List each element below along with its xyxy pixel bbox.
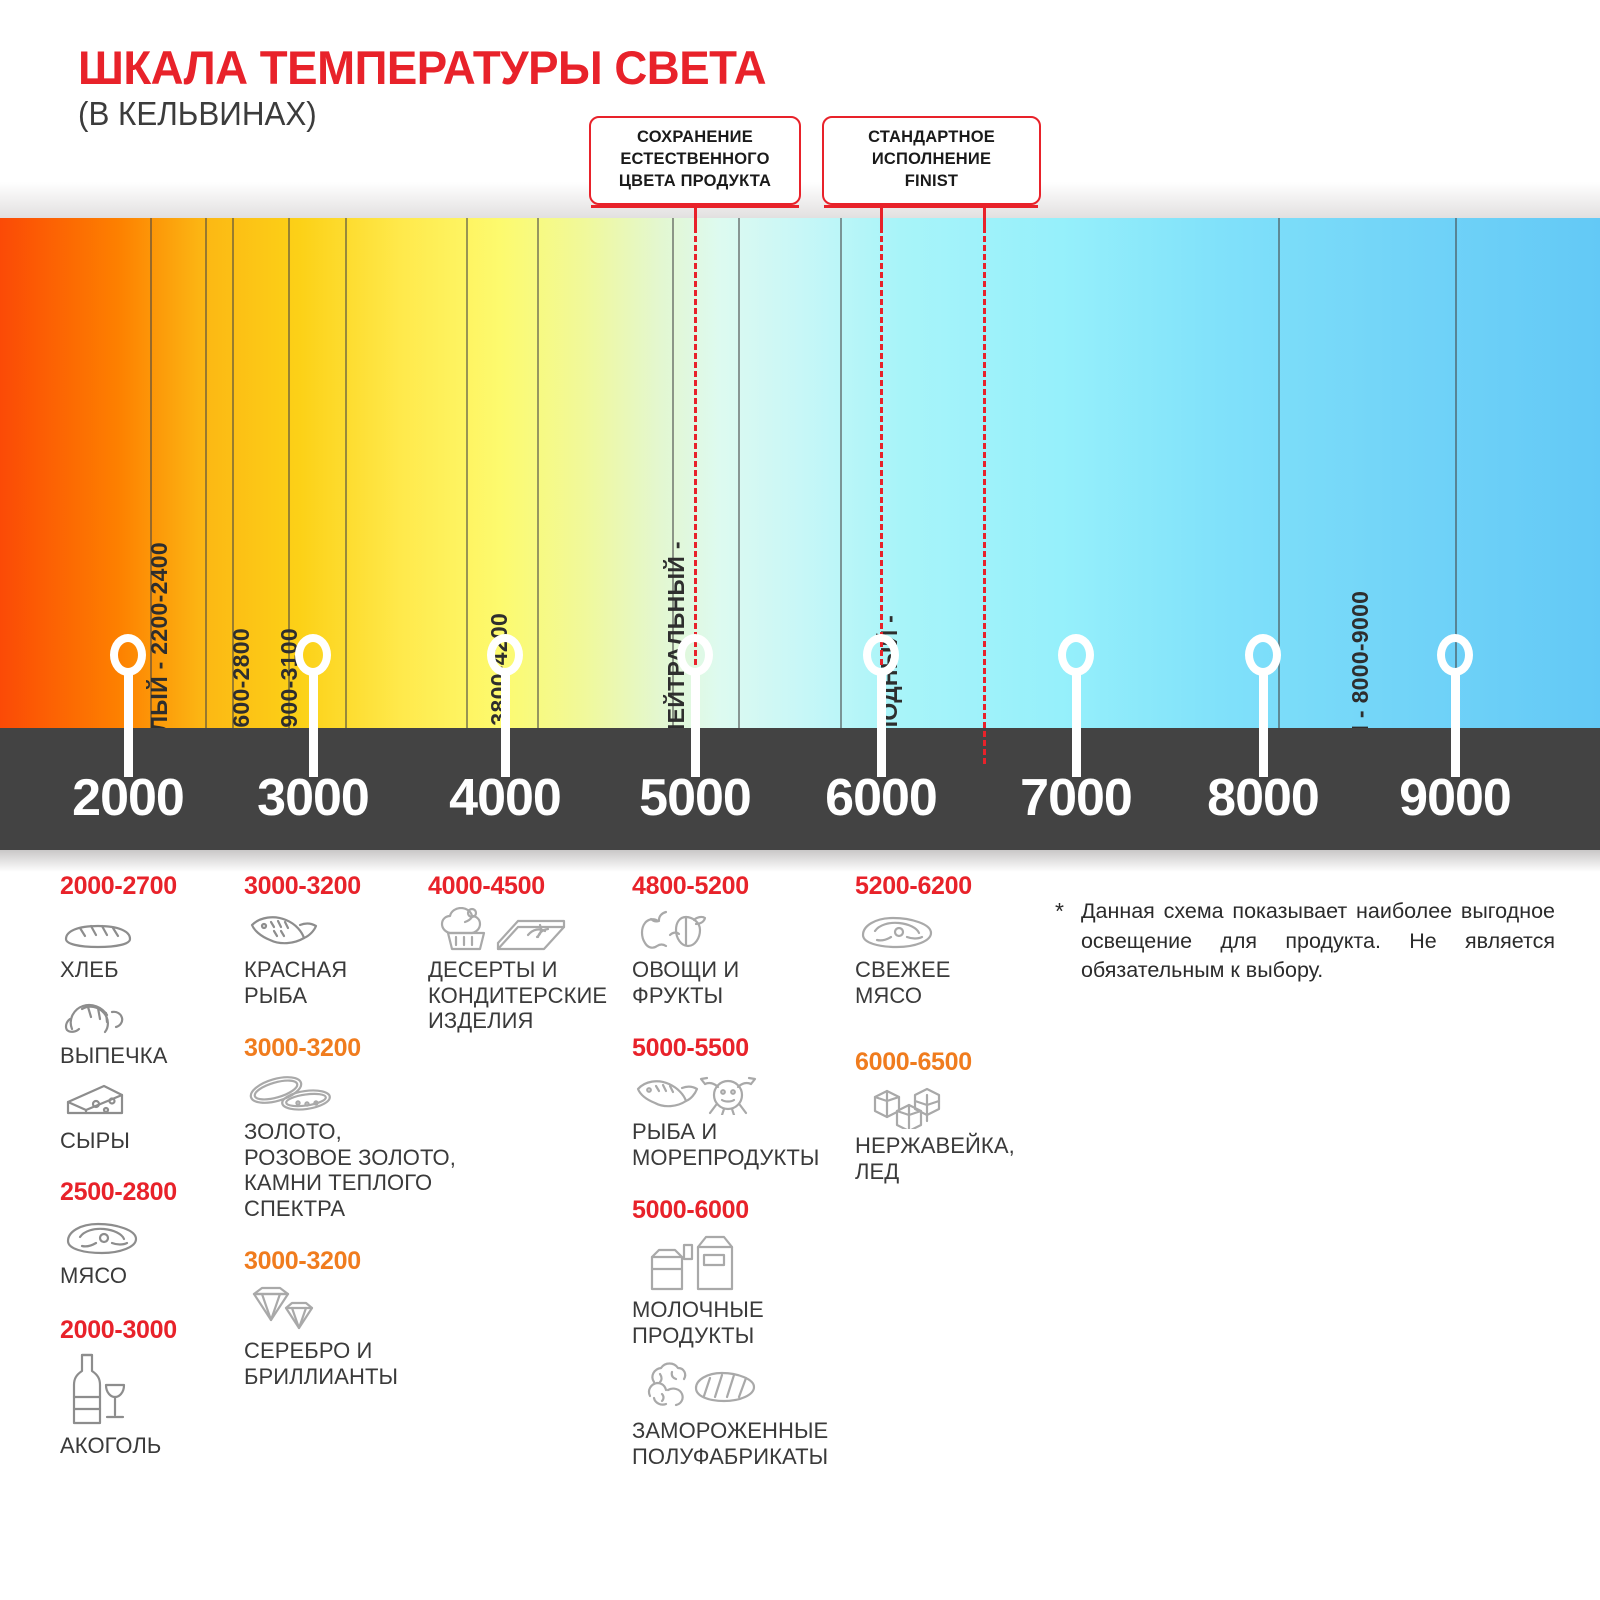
- legend-item-label: ОВОЩИ И ФРУКТЫ: [632, 957, 857, 1008]
- axis-tick-3000: 3000: [257, 768, 369, 828]
- axis-tick-9000: 9000: [1399, 768, 1511, 828]
- legend-group: 5000-5500 РЫБА: [632, 1034, 857, 1170]
- dairy-icon: [644, 1231, 857, 1293]
- axis-tick-8000: 8000: [1207, 768, 1319, 828]
- legend-range-label: 5000-5500: [632, 1034, 857, 1063]
- legend-group: 3000-3200 ЗОЛОТО, РОЗОВОЕ ЗОЛОТО, КАМНИ …: [244, 1034, 494, 1221]
- page-title: ШКАЛА ТЕМПЕРАТУРЫ СВЕТА: [78, 40, 766, 95]
- band-divider: [345, 218, 347, 728]
- band-divider: [205, 218, 207, 728]
- croissant-icon: [60, 993, 230, 1039]
- fruits-vegetables-icon: [632, 907, 857, 953]
- axis-pin-7000: [1058, 634, 1094, 777]
- band-divider: [840, 218, 842, 728]
- rings-icon: [244, 1069, 494, 1115]
- callout-natural-line3: ЦВЕТА ПРОДУКТА: [601, 171, 789, 193]
- marker-line-standard-end: [983, 218, 986, 764]
- callout-standard-line1: СТАНДАРТНОЕ: [834, 127, 1029, 149]
- legend-range-label: 4000-4500: [428, 872, 623, 901]
- alcohol-icon: [60, 1351, 230, 1429]
- list-item: ОВОЩИ И ФРУКТЫ: [632, 907, 857, 1008]
- axis-pin-4000: [487, 634, 523, 777]
- seafood-icon: [632, 1069, 857, 1115]
- axis-pin-5000: [677, 634, 713, 777]
- callout-natural-line1: СОХРАНЕНИЕ: [601, 127, 789, 149]
- list-item: ХЛЕБ: [60, 907, 230, 983]
- legend-group: 2000-2700 ХЛЕБ: [60, 872, 230, 1154]
- callout-bridge-standard: [824, 205, 1038, 208]
- list-item: СВЕЖЕЕ МЯСО: [855, 907, 1045, 1008]
- legend-column-1: 2000-2700 ХЛЕБ: [60, 872, 230, 1469]
- legend-item-label: МЯСО: [60, 1263, 230, 1289]
- legend-column-4: 4800-5200 ОВОЩИ И ФРУКТЫ 5000-5500: [632, 872, 857, 1479]
- dessert-icon: [428, 907, 623, 953]
- legend-range-label: 2500-2800: [60, 1178, 230, 1207]
- bread-icon: [60, 907, 230, 953]
- legend-range-label: 4800-5200: [632, 872, 857, 901]
- callout-standard-finist: СТАНДАРТНОЕ ИСПОЛНЕНИЕ FINIST: [822, 116, 1041, 205]
- legend-item-label: НЕРЖАВЕЙКА, ЛЕД: [855, 1133, 1045, 1184]
- legend-group: 2500-2800 МЯСО: [60, 1178, 230, 1289]
- legend-item-label: СЫРЫ: [60, 1128, 230, 1154]
- list-item: ДЕСЕРТЫ И КОНДИТЕРСКИЕ ИЗДЕЛИЯ: [428, 907, 623, 1034]
- axis-tick-7000: 7000: [1020, 768, 1132, 828]
- list-item: ЗОЛОТО, РОЗОВОЕ ЗОЛОТО, КАМНИ ТЕПЛОГО СП…: [244, 1069, 494, 1221]
- axis-pin-3000: [295, 634, 331, 777]
- list-item: НЕРЖАВЕЙКА, ЛЕД: [867, 1083, 1045, 1184]
- footnote: * Данная схема показывает наиболее выгод…: [1055, 897, 1555, 986]
- band-divider: [738, 218, 740, 728]
- legend-range-label: 3000-3200: [244, 1247, 494, 1276]
- legend-group: 4800-5200 ОВОЩИ И ФРУКТЫ: [632, 872, 857, 1008]
- callout-standard-line2: ИСПОЛНЕНИЕ: [834, 149, 1029, 171]
- kelvin-gradient-bar: СУПЕР ТЕПЛЫЙ - 2200-2400 (тип К 2400) ТЕ…: [0, 218, 1600, 728]
- list-item: АКОГОЛЬ: [60, 1351, 230, 1459]
- axis-pin-6000: [863, 634, 899, 777]
- legend-range-label: 6000-6500: [855, 1048, 1045, 1077]
- legend-item-label: РЫБА И МОРЕПРОДУКТЫ: [632, 1119, 857, 1170]
- axis-tick-6000: 6000: [825, 768, 937, 828]
- axis-bottom-shadow: [0, 850, 1600, 872]
- legend-item-label: МОЛОЧНЫЕ ПРОДУКТЫ: [632, 1297, 857, 1348]
- footnote-text: Данная схема показывает наиболее выгодно…: [1081, 897, 1555, 986]
- legend-item-label: ЗОЛОТО, РОЗОВОЕ ЗОЛОТО, КАМНИ ТЕПЛОГО СП…: [244, 1119, 494, 1221]
- legend-range-label: 5000-6000: [632, 1196, 857, 1225]
- callout-standard-line3: FINIST: [834, 171, 1029, 193]
- band-label-warm-2700-line1: ТЕПЛЫЙ - 2600-2800: [228, 628, 255, 728]
- axis-pin-2000: [110, 634, 146, 777]
- list-item: СЫРЫ: [60, 1078, 230, 1154]
- legend-item-label: ЗАМОРОЖЕННЫЕ ПОЛУФАБРИКАТЫ: [632, 1418, 857, 1469]
- list-item: СЕРЕБРО И БРИЛЛИАНТЫ: [244, 1282, 494, 1389]
- legend-item-label: ДЕСЕРТЫ И КОНДИТЕРСКИЕ ИЗДЕЛИЯ: [428, 957, 623, 1034]
- fresh-meat-icon: [855, 907, 1045, 953]
- legend-range-label: 2000-2700: [60, 872, 230, 901]
- legend-item-label: СЕРЕБРО И БРИЛЛИАНТЫ: [244, 1338, 494, 1389]
- axis-pin-8000: [1245, 634, 1281, 777]
- list-item: РЫБА И МОРЕПРОДУКТЫ: [632, 1069, 857, 1170]
- band-label-super-warm-line1: СУПЕР ТЕПЛЫЙ - 2200-2400: [146, 542, 173, 728]
- axis-pin-9000: [1437, 634, 1473, 777]
- legend-column-3: 4000-4500 ДЕСЕРТЫ И КОНДИТЕРСКИЕ ИЗДЕЛИЯ: [428, 872, 623, 1044]
- band-divider: [537, 218, 539, 728]
- legend-group: 5200-6200 СВЕЖЕЕ МЯСО: [855, 872, 1045, 1008]
- cheese-icon: [60, 1078, 230, 1124]
- ice-cubes-icon: [867, 1083, 1045, 1129]
- legend: 2000-2700 ХЛЕБ: [0, 872, 1600, 1600]
- legend-item-label: СВЕЖЕЕ МЯСО: [855, 957, 1045, 1008]
- band-label-cold-line1: ХОЛОДНЫЙ - 8000-9000: [1347, 591, 1374, 728]
- legend-group: 2000-3000 АКОГОЛЬ: [60, 1316, 230, 1459]
- legend-column-5: 5200-6200 СВЕЖЕЕ МЯСО 6000-6500: [855, 872, 1045, 1194]
- page-subtitle: (В КЕЛЬВИНАХ): [78, 95, 317, 133]
- list-item: ЗАМОРОЖЕННЫЕ ПОЛУФАБРИКАТЫ: [644, 1360, 857, 1469]
- list-item: ВЫПЕЧКА: [60, 993, 230, 1069]
- legend-item-label: ХЛЕБ: [60, 957, 230, 983]
- axis-tick-2000: 2000: [72, 768, 184, 828]
- legend-group: 6000-6500 НЕРЖАВЕЙКА, ЛЕД: [855, 1048, 1045, 1184]
- callout-natural-line2: ЕСТЕСТВЕННОГО: [601, 149, 789, 171]
- legend-group: 4000-4500 ДЕСЕРТЫ И КОНДИТЕРСКИЕ ИЗДЕЛИЯ: [428, 872, 623, 1034]
- band-divider: [466, 218, 468, 728]
- legend-group: 5000-6000 МОЛОЧНЫЕ ПРОДУКТЫ: [632, 1196, 857, 1469]
- legend-range-label: 5200-6200: [855, 872, 1045, 901]
- axis-tick-4000: 4000: [449, 768, 561, 828]
- list-item: МЯСО: [60, 1213, 230, 1289]
- axis-tick-5000: 5000: [639, 768, 751, 828]
- diamond-icon: [244, 1282, 494, 1334]
- legend-item-label: ВЫПЕЧКА: [60, 1043, 230, 1069]
- callout-natural-color: СОХРАНЕНИЕ ЕСТЕСТВЕННОГО ЦВЕТА ПРОДУКТА: [589, 116, 801, 205]
- list-item: МОЛОЧНЫЕ ПРОДУКТЫ: [644, 1231, 857, 1348]
- steak-icon: [60, 1213, 230, 1259]
- frozen-food-icon: [644, 1360, 857, 1414]
- kelvin-axis-strip: [0, 728, 1600, 850]
- legend-range-label: 2000-3000: [60, 1316, 230, 1345]
- footnote-marker: *: [1055, 897, 1064, 986]
- legend-item-label: АКОГОЛЬ: [60, 1433, 230, 1459]
- legend-group: 3000-3200 СЕРЕБРО И БРИЛЛИАНТЫ: [244, 1247, 494, 1389]
